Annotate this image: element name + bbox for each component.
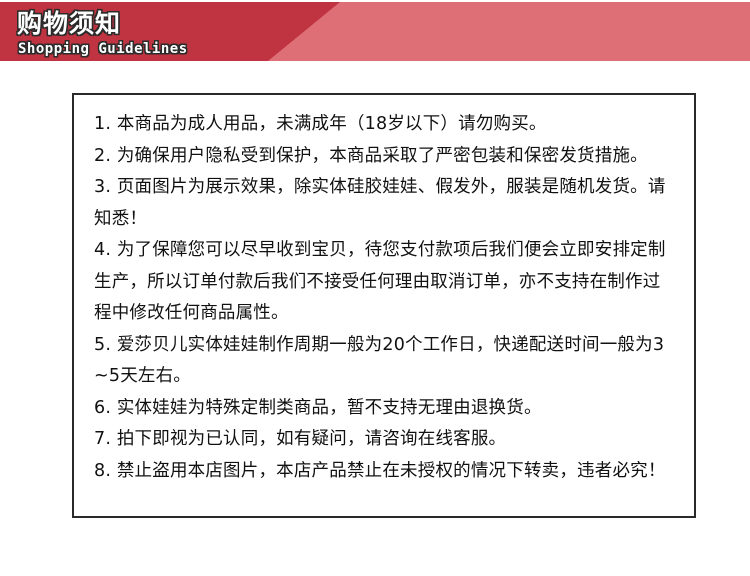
list-item: 8. 禁止盗用本店图片，本店产品禁止在未授权的情况下转卖，违者必究！ xyxy=(94,456,678,488)
page-subtitle: Shopping Guidelines xyxy=(18,41,188,58)
list-item: 3. 页面图片为展示效果，除实体硅胶娃娃、假发外，服装是随机发货。请知悉！ xyxy=(94,172,678,235)
list-item: 1. 本商品为成人用品，未满成年（18岁以下）请勿购买。 xyxy=(94,109,678,141)
page-title: 购物须知 xyxy=(17,9,121,38)
list-item: 6. 实体娃娃为特殊定制类商品，暂不支持无理由退换货。 xyxy=(94,393,678,425)
list-item: 2. 为确保用户隐私受到保护，本商品采取了严密包装和保密发货措施。 xyxy=(94,141,678,173)
list-item: 5. 爱莎贝儿实体娃娃制作周期一般为20个工作日，快递配送时间一般为3~5天左右… xyxy=(94,330,678,393)
notice-box: 1. 本商品为成人用品，未满成年（18岁以下）请勿购买。 2. 为确保用户隐私受… xyxy=(72,93,696,518)
header-banner: 购物须知 Shopping Guidelines xyxy=(0,2,750,61)
notice-list: 1. 本商品为成人用品，未满成年（18岁以下）请勿购买。 2. 为确保用户隐私受… xyxy=(94,109,678,487)
list-item: 4. 为了保障您可以尽早收到宝贝，待您支付款项后我们便会立即安排定制生产，所以订… xyxy=(94,235,678,330)
list-item: 7. 拍下即视为已认同，如有疑问，请咨询在线客服。 xyxy=(94,424,678,456)
shopping-guidelines-page: 购物须知 Shopping Guidelines 1. 本商品为成人用品，未满成… xyxy=(0,0,750,576)
